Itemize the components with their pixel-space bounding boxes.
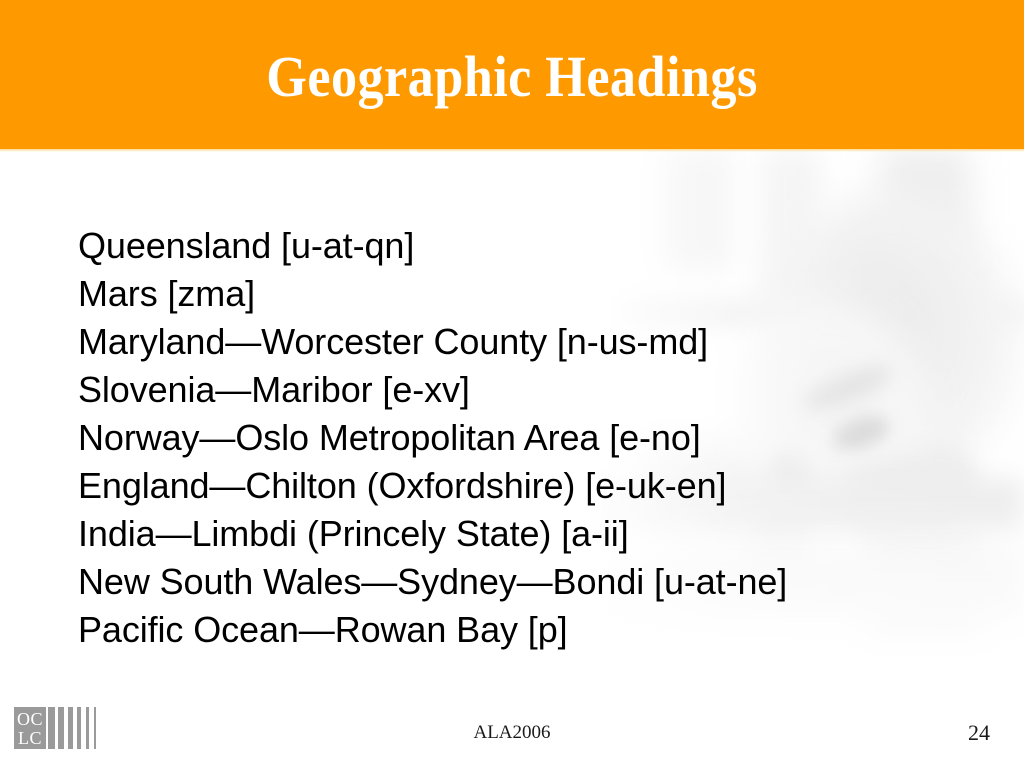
presentation-slide: Geographic Headings Queensland [u-at-qn]… [0, 0, 1024, 768]
heading-line: Queensland [u-at-qn] [78, 222, 958, 270]
heading-line: Pacific Ocean—Rowan Bay [p] [78, 606, 958, 654]
slide-title: Geographic Headings [51, 44, 973, 110]
page-number: 24 [968, 720, 990, 746]
heading-line: Slovenia—Maribor [e-xv] [78, 366, 958, 414]
heading-line: Norway—Oslo Metropolitan Area [e-no] [78, 414, 958, 462]
footer-conference-label: ALA2006 [0, 722, 1024, 744]
heading-line: New South Wales—Sydney—Bondi [u-at-ne] [78, 558, 958, 606]
heading-line: England—Chilton (Oxfordshire) [e-uk-en] [78, 462, 958, 510]
heading-line: Mars [zma] [78, 270, 958, 318]
heading-line: Maryland—Worcester County [n-us-md] [78, 318, 958, 366]
geographic-headings-list: Queensland [u-at-qn] Mars [zma] Maryland… [78, 222, 958, 654]
title-band-edge [0, 149, 1024, 152]
heading-line: India—Limbdi (Princely State) [a-ii] [78, 510, 958, 558]
